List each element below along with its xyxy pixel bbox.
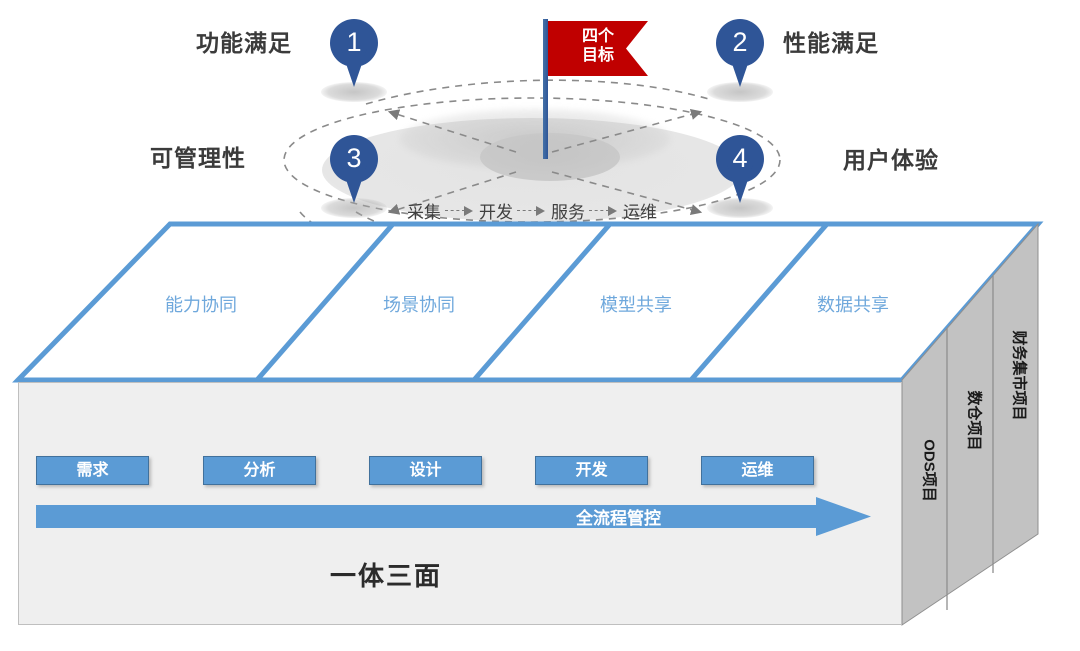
dashed-arrow-icon bbox=[445, 205, 475, 217]
side-panel-label-finance: 财务集市项目 bbox=[1010, 316, 1031, 436]
flag-banner: 四个 目标 bbox=[548, 21, 648, 76]
dashed-arrow-icon bbox=[517, 205, 547, 217]
pin-1-number: 1 bbox=[330, 19, 378, 65]
diagram-canvas: 功能满足 性能满足 可管理性 用户体验 1 2 3 4 四个 目标 采集 开发 bbox=[0, 0, 1080, 651]
flow-step-4: 运维 bbox=[623, 198, 657, 223]
pin-marker-3[interactable]: 3 bbox=[330, 135, 378, 203]
flow-step-2: 开发 bbox=[479, 198, 513, 223]
pin-4-number: 4 bbox=[716, 135, 764, 181]
inner-flow-group: 采集 开发 服务 运维 bbox=[407, 198, 657, 223]
cube-front-caption: 一体三面 bbox=[330, 556, 442, 593]
stage-box-2[interactable]: 分析 bbox=[203, 456, 316, 485]
flag-pole bbox=[543, 19, 548, 159]
dashed-arrow-icon bbox=[589, 205, 619, 217]
flag-text-line1: 四个 bbox=[548, 27, 648, 46]
pin-marker-4[interactable]: 4 bbox=[716, 135, 764, 203]
goal-label-3: 可管理性 bbox=[150, 139, 246, 173]
side-panel-label-ods: ODS项目 bbox=[920, 426, 941, 516]
goal-label-2: 性能满足 bbox=[783, 24, 879, 58]
stage-box-3[interactable]: 设计 bbox=[369, 456, 482, 485]
stage-box-5[interactable]: 运维 bbox=[701, 456, 814, 485]
top-cell-label-2: 场景协同 bbox=[383, 291, 455, 317]
stage-box-4[interactable]: 开发 bbox=[535, 456, 648, 485]
pin-3-number: 3 bbox=[330, 135, 378, 181]
pin-marker-1[interactable]: 1 bbox=[330, 19, 378, 87]
goal-label-1: 功能满足 bbox=[196, 24, 292, 58]
flag-text-line2: 目标 bbox=[548, 46, 648, 65]
full-process-arrow-label: 全流程管控 bbox=[576, 504, 661, 529]
flow-step-3: 服务 bbox=[551, 198, 585, 223]
inner-disc-shape bbox=[480, 133, 620, 181]
goal-label-4: 用户体验 bbox=[843, 141, 939, 175]
top-cell-label-4: 数据共享 bbox=[817, 291, 889, 317]
flow-step-1: 采集 bbox=[407, 198, 441, 223]
pin-2-number: 2 bbox=[716, 19, 764, 65]
side-panel-label-dw: 数仓项目 bbox=[965, 376, 986, 466]
pin-marker-2[interactable]: 2 bbox=[716, 19, 764, 87]
top-cell-label-1: 能力协同 bbox=[165, 291, 237, 317]
cube-front-face bbox=[18, 382, 902, 625]
top-cell-label-3: 模型共享 bbox=[600, 291, 672, 317]
stage-box-1[interactable]: 需求 bbox=[36, 456, 149, 485]
